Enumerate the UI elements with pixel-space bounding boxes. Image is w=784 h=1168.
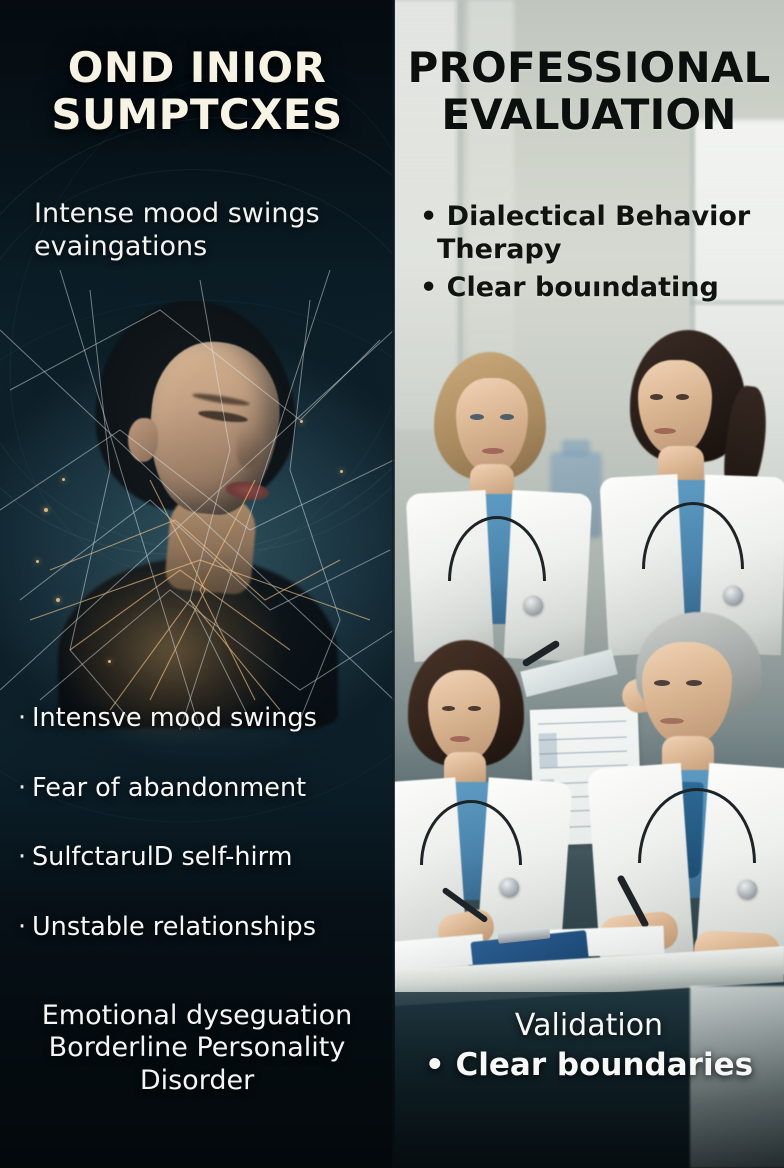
left-panel-subtitle: Intense mood swings evaingations [34,198,374,264]
left-panel: OND INIOR SUMPTCXES Intense mood swings … [0,0,394,1168]
spark-dot [300,420,303,423]
fractured-light-shards [0,270,394,730]
spark-dot [56,598,60,602]
list-item-label: Clear bouındating [447,272,719,303]
left-panel-title: OND INIOR SUMPTCXES [0,44,394,138]
doctor-mouth [654,428,676,434]
doctor-mouth [450,736,470,742]
doctor-eye [500,414,514,420]
list-item-label: SulfctarulD self-hirm [32,842,293,872]
right-panel-footer: Validation • Clear boundaries [394,1006,784,1085]
bullet-icon: · [18,706,32,732]
left-subtitle-line-1: Intense mood swings [34,198,374,231]
bullet-icon: · [18,776,32,802]
left-footer-line-1: Emotional dyseguation [0,1000,394,1032]
left-subtitle-line-2: evaingations [34,231,374,264]
left-panel-footer: Emotional dyseguation Borderline Persona… [0,1000,394,1097]
left-footer-line-3: Disorder [0,1065,394,1097]
stethoscope-bell [724,586,743,605]
right-title-line-1: PROFESSIONAL [394,44,784,91]
list-item-label: Intensve mood swings [32,703,317,733]
spark-dot [44,508,48,512]
stethoscope-bell [738,880,757,899]
list-item: ·Intensve mood swings [18,706,388,732]
list-item: ·SulfctarulD self-hirm [18,845,388,871]
right-panel: PROFESSIONAL EVALUATION • Dialectical Be… [394,0,784,1168]
list-item-label: Fear of abandonment [32,773,306,803]
doctor-eye [676,394,689,400]
left-title-line-2: SUMPTCXES [0,91,394,138]
doctor-eye [468,706,481,711]
right-treatment-list: • Dialectical Behavior Therapy • Clear b… [420,200,770,308]
left-symptom-list: ·Intensve mood swings ·Fear of abandonme… [18,706,388,984]
left-footer-line-2: Borderline Personality [0,1032,394,1064]
doctor-blonde [412,352,572,652]
doctor-eye [650,394,663,400]
doctor-senior [590,612,784,972]
stethoscope-bell [500,878,519,897]
stethoscope-bell [524,596,543,615]
right-title-line-2: EVALUATION [394,91,784,138]
panel-divider [392,0,395,1168]
doctor-mouth [482,448,504,454]
spark-dot [108,660,111,663]
doctor-eye [470,414,484,420]
right-panel-title: PROFESSIONAL EVALUATION [394,44,784,138]
doctor-eye [654,680,670,686]
bullet-icon: • [420,272,437,303]
bullet-icon: • [420,201,437,232]
list-item: ·Fear of abandonment [18,776,388,802]
doctor-brunette [602,330,778,650]
doctor-eye [442,706,455,711]
spark-dot [340,470,343,473]
doctor-seated-young [394,640,558,970]
bullet-icon: · [18,845,32,871]
spark-dot [62,478,65,481]
list-item-label: Unstable relationships [32,912,316,942]
list-item: • Clear bouındating [420,271,770,304]
list-item: ·Unstable relationships [18,915,388,941]
right-footer-line-1: Validation [394,1006,784,1045]
doctor-face [642,642,732,746]
list-item: • Dialectical Behavior Therapy [420,200,770,267]
list-item-label: Dialectical Behavior Therapy [437,201,750,265]
doctor-eye [686,680,702,686]
left-title-line-1: OND INIOR [0,44,394,91]
poster-root: OND INIOR SUMPTCXES Intense mood swings … [0,0,784,1168]
doctor-mouth [660,718,684,724]
spark-dot [36,560,39,563]
bullet-icon: · [18,915,32,941]
right-footer-line-2: • Clear boundaries [394,1045,784,1085]
